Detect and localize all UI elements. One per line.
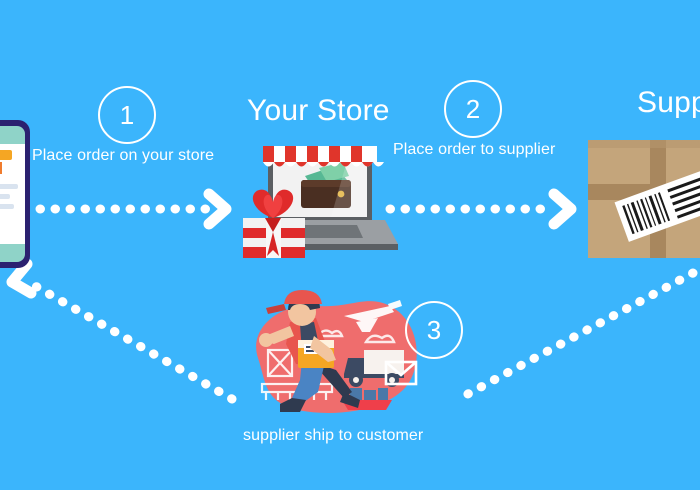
- smartphone-icon: [0, 118, 34, 270]
- step-number-2-value: 2: [466, 94, 480, 125]
- step-number-1: 1: [98, 86, 156, 144]
- connector-step-2: [390, 194, 571, 224]
- arrowhead-step-2: [554, 194, 571, 224]
- step-label-1: Place order on your store: [32, 147, 214, 165]
- connector-step-3-right: [466, 273, 693, 395]
- arrowhead-step-1: [209, 194, 226, 224]
- store-laptop-icon: [235, 132, 405, 262]
- step-number-3-value: 3: [427, 315, 441, 346]
- step-number-3: 3: [405, 301, 463, 359]
- node-title-supplier: Supp: [637, 86, 700, 120]
- step-label-2: Place order to supplier: [393, 141, 555, 159]
- delivery-man-icon: [240, 288, 430, 422]
- step-number-2: 2: [444, 80, 502, 138]
- connector-step-3-left: [12, 264, 232, 399]
- node-title-your-store: Your Store: [247, 94, 390, 128]
- step-number-1-value: 1: [120, 100, 134, 131]
- dropshipping-flow-diagram: 1 2 3 Your Store Supp Place order on you…: [0, 0, 700, 490]
- step-label-3: supplier ship to customer: [243, 427, 423, 445]
- shipping-box-icon: [588, 140, 700, 258]
- connector-step-1: [40, 194, 226, 224]
